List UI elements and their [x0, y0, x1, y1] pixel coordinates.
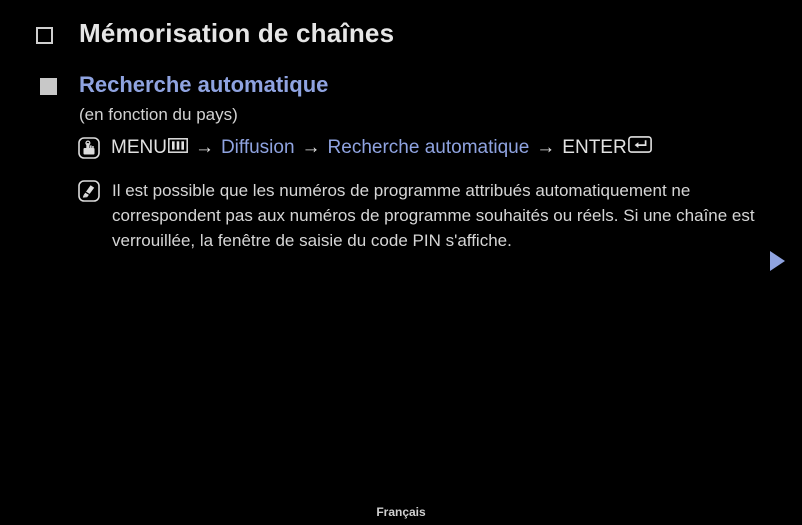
menu-path-step-3[interactable]: Recherche automatique — [328, 137, 530, 159]
next-arrow-icon[interactable] — [770, 251, 785, 271]
menu-path-arrow-1: → — [195, 137, 214, 159]
hollow-square-icon — [36, 27, 53, 44]
filled-square-icon — [40, 78, 57, 95]
note-text: Il est possible que les numéros de progr… — [112, 178, 762, 253]
enter-key-icon — [628, 136, 652, 159]
menu-path-arrow-3: → — [536, 137, 555, 159]
page-title-label: Mémorisation de chaînes — [79, 18, 394, 49]
note-block: Il est possible que les numéros de progr… — [78, 178, 768, 253]
note-pencil-icon — [78, 180, 100, 202]
section-heading-label: Recherche automatique — [79, 72, 328, 98]
menu-path-step-1: MENU — [111, 137, 167, 159]
section-heading: Recherche automatique — [40, 72, 328, 98]
section-subtitle: (en fonction du pays) — [79, 105, 238, 125]
menu-path-step-2[interactable]: Diffusion — [221, 137, 295, 159]
menu-path-arrow-2: → — [302, 137, 321, 159]
menu-path-text: MENU →Diffusion→Recherche automatique→EN… — [111, 136, 652, 159]
footer-language-label: Français — [0, 505, 802, 519]
ehelp-page: Mémorisation de chaînes Recherche automa… — [0, 0, 802, 525]
remote-button-press-icon — [78, 137, 100, 159]
page-title: Mémorisation de chaînes — [36, 18, 394, 49]
menu-path: MENU →Diffusion→Recherche automatique→EN… — [78, 136, 652, 159]
menu-path-step-4: ENTER — [562, 137, 626, 159]
menu-key-icon — [168, 137, 188, 159]
